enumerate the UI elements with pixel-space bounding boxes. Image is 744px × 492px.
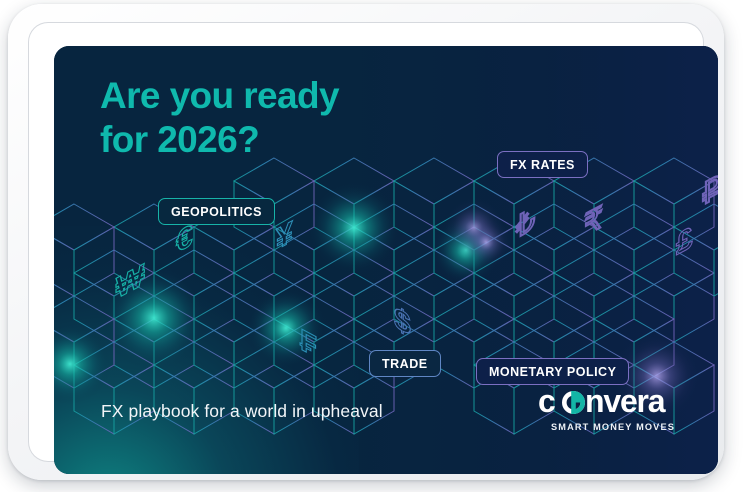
currency-glyph-british-pound: £ <box>676 219 693 262</box>
svg-text:c: c <box>538 385 555 419</box>
convera-logo: c nvera SMART MONEY MOVES <box>538 385 688 432</box>
tablet-frame: ₩ € ¥ ₣ $ ₺ ₹ £ ₽ Are you ready for 2026… <box>8 4 724 480</box>
subtitle: FX playbook for a world in upheaval <box>101 401 383 422</box>
screen: ₩ € ¥ ₣ $ ₺ ₹ £ ₽ Are you ready for 2026… <box>54 46 718 474</box>
currency-glyph-japanese-yen: ¥ <box>276 214 293 257</box>
glow-node <box>54 324 110 404</box>
currency-glyph-indian-rupee: ₹ <box>584 199 603 243</box>
badge-geopolitics[interactable]: GEOPOLITICS <box>158 198 275 225</box>
convera-tagline: SMART MONEY MOVES <box>538 422 688 432</box>
badge-trade[interactable]: TRADE <box>369 350 441 377</box>
tablet-bezel: ₩ € ¥ ₣ $ ₺ ₹ £ ₽ Are you ready for 2026… <box>28 22 704 462</box>
convera-mark-icon <box>564 393 582 411</box>
glow-node <box>460 216 512 268</box>
glow-node <box>308 182 400 274</box>
svg-text:nvera: nvera <box>585 385 666 419</box>
badge-fx-rates[interactable]: FX RATES <box>497 151 588 178</box>
page-title: Are you ready for 2026? <box>100 74 339 161</box>
currency-glyph-us-dollar: $ <box>394 300 411 343</box>
convera-wordmark: c nvera <box>538 385 688 419</box>
currency-glyph-turkish-lira: ₺ <box>515 201 536 246</box>
badge-monetary-policy[interactable]: MONETARY POLICY <box>476 358 629 385</box>
